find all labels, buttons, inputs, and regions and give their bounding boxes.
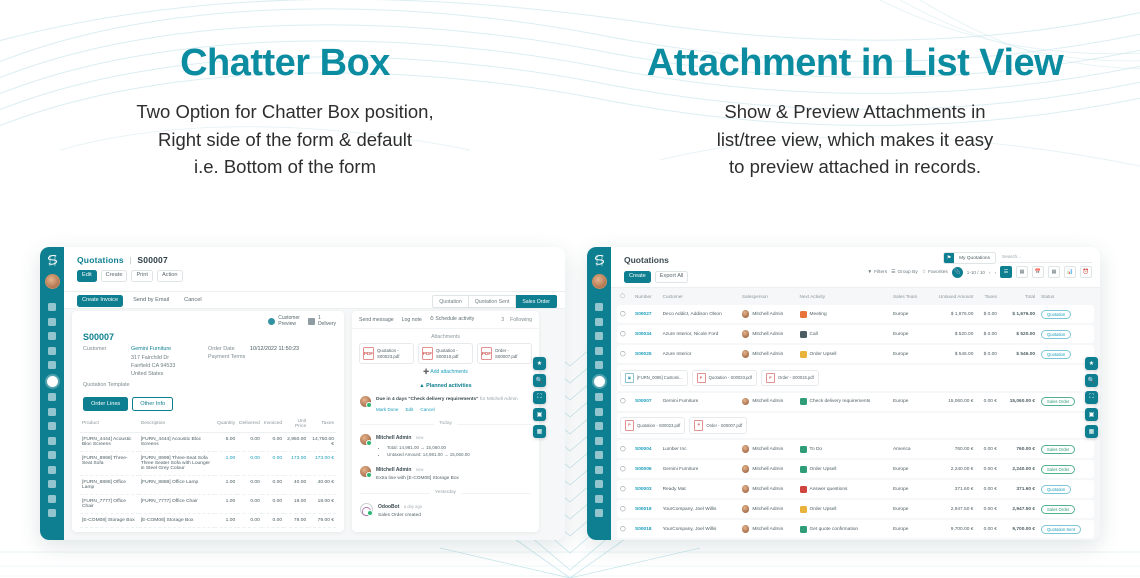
export-all-button[interactable]: Export All — [655, 271, 689, 283]
table-row[interactable]: ◯ S00004 Lumber Inc Mitchell Admin To Do… — [617, 440, 1094, 458]
table-row[interactable]: ◯ S00018 YourCompany, Joel Willis Mitche… — [617, 520, 1094, 538]
search-input[interactable]: Search... — [1000, 253, 1092, 263]
status-badge: Sales Order — [1041, 445, 1075, 454]
pdf-icon: PDF — [481, 347, 492, 360]
row-checkbox[interactable]: ◯ — [617, 480, 632, 498]
cell-team: Europe — [890, 500, 927, 518]
print-button[interactable]: Print — [131, 270, 153, 282]
tab-other-info[interactable]: Other Info — [132, 397, 173, 411]
cancel-button[interactable]: Cancel — [179, 295, 206, 307]
cell-number[interactable]: S00019 — [635, 507, 652, 512]
view-switch-list[interactable]: ☰ — [1000, 266, 1012, 278]
table-row[interactable]: ◯ S00019 YourCompany, Joel Willis Mitche… — [617, 500, 1094, 518]
col-number[interactable]: Number — [632, 289, 660, 303]
search-facet-label: My Quotations — [954, 253, 995, 263]
sidebar-item-employees[interactable] — [595, 466, 603, 474]
cell-number[interactable]: S00025 — [635, 352, 652, 357]
cell-untaxed: $ 1,676.00 — [927, 305, 976, 323]
truck-icon — [308, 318, 315, 325]
cell-customer: Lumber Inc — [660, 440, 739, 458]
cell-unit-price: 79.00 — [284, 513, 308, 527]
cell-team: Europe — [890, 345, 927, 363]
cell-customer: Gemini Furniture — [660, 393, 739, 411]
message-bullets: Total: 14,981.00 → 15,060.00 Untaxed Amo… — [382, 444, 470, 458]
status-step-quotation[interactable]: Quotation — [432, 295, 469, 308]
add-attachments-button[interactable]: ➕ Add attachments — [352, 364, 539, 377]
cell-number[interactable]: S00003 — [635, 487, 652, 492]
cell-unit-price: 40.00 — [284, 475, 308, 494]
breadcrumb-separator: | — [129, 255, 131, 265]
sidebar-item-calendar[interactable] — [48, 332, 56, 340]
sidebar-item-settings[interactable] — [48, 509, 56, 517]
sidebar-item-settings-alt[interactable] — [595, 422, 603, 430]
search-icon[interactable]: 🔍 — [1085, 374, 1098, 387]
row-checkbox[interactable]: ◯ — [617, 460, 632, 478]
sidebar-item-quotations[interactable] — [47, 376, 58, 387]
page-title: Quotations — [624, 255, 669, 265]
sidebar-item-purchase[interactable] — [48, 437, 56, 445]
col-total[interactable]: Total — [1000, 289, 1038, 303]
delivery-smart-button[interactable]: 1 Delivery — [308, 316, 336, 328]
sidebar-item-home[interactable] — [48, 303, 56, 311]
filters-button[interactable]: ▼ Filters — [867, 270, 887, 275]
eye-icon — [268, 318, 275, 325]
activity-subject: "Check delivery requirements" — [408, 397, 478, 402]
cell-subtotal: 173.00 € — [308, 451, 336, 475]
quotations-table-body: ◯ S00027 Deco Addict, Addison Olson Mitc… — [617, 305, 1094, 540]
activity-icon — [800, 311, 807, 318]
table-row[interactable]: ◯ S00025 Azure Interior Mitchell Admin O… — [617, 345, 1094, 363]
cell-description: [E-COM08] Storage Box — [139, 513, 215, 527]
attachment-chip-list: P Quotation - S00023.pdf P Order - S0000… — [620, 417, 1091, 434]
col-delivered[interactable]: Delivered — [237, 417, 262, 433]
create-button[interactable]: Create — [624, 271, 651, 283]
cell-number[interactable]: S00034 — [635, 332, 652, 337]
table-row[interactable]: ◯ S00003 Ready Mat Mitchell Admin Answer… — [617, 480, 1094, 498]
status-badge: Quotation — [1041, 330, 1071, 339]
cell-description: [FURN_8999] Three-Seat Sofa Three Seater… — [139, 451, 215, 475]
cell-unit-price: 18.00 — [284, 494, 308, 513]
sidebar-item-settings[interactable] — [595, 509, 603, 517]
attachment-chip[interactable]: PDF Quotation - S00023.pdf — [359, 343, 414, 364]
form-view-mockup: Quotations | S00007 Edit Create Print Ac… — [40, 247, 565, 540]
message-body: Mitchell Admin now Extra line with [E-CO… — [376, 466, 459, 482]
col-next-activity[interactable]: Next Activity — [797, 289, 890, 303]
row-checkbox[interactable]: ◯ — [617, 520, 632, 538]
floating-toolbar-left: ★ 🔍 ⛶ ▣ ▦ — [533, 357, 546, 438]
cell-number[interactable]: S00006 — [635, 467, 652, 472]
row-checkbox[interactable]: ◯ — [617, 500, 632, 518]
day-separator-label: Yesterday — [430, 490, 461, 495]
cell-total: 371.60 € — [1000, 480, 1038, 498]
favorites-label: Favorites — [928, 270, 948, 275]
sidebar-icon-list — [594, 303, 605, 517]
order-lines-header-row: Product Description Quantity Delivered I… — [80, 417, 336, 433]
row-checkbox[interactable]: ◯ — [617, 325, 632, 343]
attachment-chip[interactable]: P Order - S00007.pdf — [689, 417, 747, 434]
cell-activity: To Do — [810, 447, 823, 452]
cell-product: [E-COM08] Storage Box — [80, 513, 139, 527]
app-logo-icon[interactable] — [591, 252, 608, 269]
star-icon[interactable]: ★ — [533, 357, 546, 370]
cell-delivered: 0.00 — [237, 432, 262, 451]
col-salesperson[interactable]: Salesperson — [739, 289, 797, 303]
attachment-name: Quotation - S00010.pdf — [436, 348, 469, 360]
sidebar-item-sales[interactable] — [48, 318, 56, 326]
col-taxes[interactable]: Taxes — [976, 289, 1000, 303]
col-quantity[interactable]: Quantity — [215, 417, 237, 433]
quotation-form-card: Customer Preview 1 Delivery S00007 Custo… — [72, 311, 344, 532]
grid-icon[interactable]: ▦ — [1085, 425, 1098, 438]
attachment-chip[interactable]: ▣ [FURN_0096] Customi... — [620, 370, 688, 387]
message-bullet: Total: 14,981.00 → 15,060.00 — [387, 444, 470, 451]
planned-activity-item: Due in 4 days "Check delivery requiremen… — [352, 392, 539, 417]
view-switch-pivot[interactable]: ▦ — [1048, 266, 1060, 278]
breadcrumb: Quotations | S00007 — [77, 255, 168, 265]
cell-team: Europe — [890, 305, 927, 323]
message-body: OdooBot a day ago Sales Order created — [378, 503, 422, 519]
user-avatar[interactable] — [592, 274, 607, 289]
cell-taxes: 0.00 € — [976, 460, 1000, 478]
form-topbar: Quotations | S00007 Edit Create Print Ac… — [64, 247, 565, 292]
cell-number[interactable]: S00027 — [635, 312, 652, 317]
filters-label: Filters — [874, 270, 887, 275]
order-date-value[interactable]: 10/12/2022 11:50:23 — [250, 346, 299, 352]
smart-button-bar: Customer Preview 1 Delivery — [72, 311, 344, 330]
status-badge: Sales Order — [1041, 397, 1075, 406]
list-body: ◯ Number Customer Salesperson Next Activ… — [611, 287, 1100, 540]
list-icon: ☰ — [891, 270, 895, 275]
cell-invoiced: 0.00 — [262, 475, 284, 494]
avatar — [360, 434, 371, 445]
row-checkbox[interactable]: ◯ — [617, 440, 632, 458]
sidebar-item-recruitment[interactable] — [48, 480, 56, 488]
activity-cancel-button[interactable]: Cancel — [420, 406, 434, 413]
avatar — [742, 445, 750, 453]
expand-icon[interactable]: ⛶ — [533, 391, 546, 404]
status-pip — [367, 510, 373, 516]
cell-subtotal: 79.00 € — [308, 513, 336, 527]
avatar — [742, 398, 750, 406]
cell-total: 9,700.00 € — [1000, 520, 1038, 538]
breadcrumb-parent[interactable]: Quotations — [77, 255, 124, 265]
sidebar-item-manufacturing[interactable] — [595, 451, 603, 459]
col-untaxed-amount[interactable]: Untaxed Amount — [927, 289, 976, 303]
sidebar-item-sales[interactable] — [595, 318, 603, 326]
view-switch-kanban[interactable]: ▦ — [1016, 266, 1028, 278]
table-row[interactable]: [FURN_4444] Acoustic Bloc Screens [FURN_… — [80, 432, 336, 451]
tab-order-lines[interactable]: Order Lines — [83, 397, 128, 411]
pdf-icon: P — [697, 373, 706, 384]
grid-icon[interactable]: ▦ — [533, 425, 546, 438]
status-badge: Quotation — [1041, 350, 1071, 359]
form-view-panel: Quotations | S00007 Edit Create Print Ac… — [64, 247, 565, 540]
status-step-sales-order[interactable]: Sales Order — [516, 295, 557, 308]
cell-salesperson: Mitchell Admin — [752, 332, 783, 337]
cell-salesperson: Mitchell Admin — [752, 467, 783, 472]
cell-delivered: 0.00 — [237, 451, 262, 475]
create-button[interactable]: Create — [101, 270, 128, 282]
cell-taxes: 0.00 € — [976, 520, 1000, 538]
edit-button[interactable]: Edit — [77, 270, 97, 282]
group-by-button[interactable]: ☰ Group By — [891, 270, 918, 275]
table-row[interactable]: ◯ S00007 Gemini Furniture Mitchell Admin… — [617, 393, 1094, 411]
table-row[interactable]: [E-COM08] Storage Box [E-COM08] Storage … — [80, 513, 336, 527]
avatar — [360, 466, 371, 477]
col-sales-team[interactable]: Sales Team — [890, 289, 927, 303]
cell-salesperson: Mitchell Admin — [752, 399, 783, 404]
cell-delivered: 0.00 — [237, 475, 262, 494]
group-by-label: Group By — [897, 270, 917, 275]
cell-taxes: $ 0.00 — [976, 345, 1000, 363]
cell-invoiced: 0.00 — [262, 513, 284, 527]
attachment-chip[interactable]: P Quotation - S00023.pdf — [692, 370, 757, 387]
activity-edit-button[interactable]: Edit — [405, 406, 413, 413]
sidebar-item-manufacturing[interactable] — [48, 451, 56, 459]
day-separator-yesterday: Yesterday — [352, 486, 539, 499]
action-button[interactable]: Action — [157, 270, 183, 282]
chatter-message: Mitchell Admin now Total: 14,981.00 → 15… — [352, 430, 539, 462]
message-body: Mitchell Admin now Total: 14,981.00 → 15… — [376, 434, 470, 458]
sidebar-item-website[interactable] — [595, 495, 603, 503]
table-row[interactable]: ◯ S00034 Azure Interior, Nicole Ford Mit… — [617, 325, 1094, 343]
following-button[interactable]: Following — [510, 317, 532, 323]
cell-customer: Gemini Furniture — [660, 460, 739, 478]
cell-number[interactable]: S00018 — [635, 527, 652, 532]
sidebar-item-calendar[interactable] — [595, 332, 603, 340]
attachment-name: [FURN_0096] Customi... — [637, 375, 683, 380]
sidebar-item-contacts[interactable] — [48, 347, 56, 355]
cell-subtotal: 14,750.00 € — [308, 432, 336, 451]
cell-activity: Meeting — [810, 312, 827, 317]
followers-count[interactable]: 3 — [501, 317, 504, 323]
view-switch-calendar[interactable]: 📅 — [1032, 266, 1044, 278]
cell-product: [FURN_7777] Office Chair — [80, 494, 139, 513]
message-author: Mitchell Admin — [376, 435, 411, 441]
avatar-bot — [360, 503, 373, 516]
cell-invoiced: 0.00 — [262, 494, 284, 513]
app-logo-icon[interactable] — [44, 252, 61, 269]
form-fields-right: Order Date 10/12/2022 11:50:23 Payment T… — [208, 346, 333, 391]
cell-number[interactable]: S00004 — [635, 447, 652, 452]
planned-activities-title: ▲ Planned activities — [352, 377, 539, 392]
status-badge: Quotation — [1041, 310, 1071, 319]
headings-section: Chatter Box Two Option for Chatter Box p… — [0, 0, 1140, 210]
cell-activity: Order Upsell — [810, 507, 837, 512]
add-attachments-label: Add attachments — [430, 369, 468, 375]
quotation-template-label: Quotation Template — [83, 382, 130, 388]
sidebar-item-contacts[interactable] — [595, 347, 603, 355]
sidebar-item-home[interactable] — [595, 303, 603, 311]
cell-delivered: 0.00 — [237, 494, 262, 513]
customer-preview-label: Customer Preview — [278, 316, 300, 328]
cell-salesperson: Mitchell Admin — [752, 352, 783, 357]
attachment-chip[interactable]: P Order - S00015.pdf — [761, 370, 819, 387]
sidebar-item-website[interactable] — [48, 495, 56, 503]
cell-untaxed: 760.00 € — [927, 440, 976, 458]
form-fields-left: Customer Gemini Furniture 317 Fairchild … — [83, 346, 208, 391]
cell-delivered: 0.00 — [237, 513, 262, 527]
attachment-name: Order - S00015.pdf — [778, 375, 814, 380]
status-pip — [366, 472, 372, 478]
cell-activity: Order Upsell — [810, 352, 837, 357]
cell-salesperson: Mitchell Admin — [752, 487, 783, 492]
sidebar-item-purchase[interactable] — [595, 437, 603, 445]
cell-team: Europe — [890, 520, 927, 538]
attachment-name: Quotation - S00023.pdf — [709, 375, 752, 380]
order-date-label: Order Date — [208, 346, 250, 352]
cell-untaxed: 2,240.00 € — [927, 460, 976, 478]
chatter-box: Send message Log note ⏱ Schedule activit… — [352, 311, 539, 532]
attachment-row: P Quotation - S00023.pdf P Order - S0000… — [617, 413, 1094, 439]
image-icon[interactable]: ▣ — [1085, 408, 1098, 421]
cell-untaxed: 15,060.00 € — [927, 393, 976, 411]
pager-prev-button[interactable]: ‹ — [989, 270, 991, 275]
sidebar-item-favorites[interactable] — [48, 361, 56, 369]
record-title: S00007 — [72, 330, 344, 346]
customer-preview-smart-button[interactable]: Customer Preview — [268, 316, 300, 328]
user-avatar[interactable] — [45, 274, 60, 289]
col-customer[interactable]: Customer — [660, 289, 739, 303]
attachment-chip[interactable]: PDF Order - S00007.pdf — [477, 343, 532, 364]
message-bullet: Untaxed Amount: 14,981.00 → 15,060.00 — [387, 451, 470, 458]
customer-address: 317 Fairchild Dr Fairfield CA 94533 Unit… — [131, 354, 208, 378]
payment-terms-label: Payment Terms — [208, 354, 250, 360]
activity-icon — [800, 466, 807, 473]
col-product[interactable]: Product — [80, 417, 139, 433]
expand-icon[interactable]: ⛶ — [1085, 391, 1098, 404]
activity-icon — [800, 506, 807, 513]
col-invoiced[interactable]: Invoiced — [262, 417, 284, 433]
sidebar-item-settings-alt[interactable] — [48, 422, 56, 430]
search-facet[interactable]: ⚑ My Quotations — [943, 252, 996, 264]
breadcrumb-record: S00007 — [137, 255, 168, 265]
cell-number[interactable]: S00007 — [635, 399, 652, 404]
sidebar-item-recruitment[interactable] — [595, 480, 603, 488]
avatar — [742, 505, 750, 513]
row-checkbox[interactable]: ◯ — [617, 393, 632, 411]
mark-done-button[interactable]: Mark Done — [376, 406, 398, 413]
send-by-email-button[interactable]: Send by Email — [128, 295, 174, 307]
table-row[interactable]: ◯ S00006 Gemini Furniture Mitchell Admin… — [617, 460, 1094, 478]
sidebar-item-employees[interactable] — [48, 466, 56, 474]
pager-next-button[interactable]: › — [994, 270, 996, 275]
col-status[interactable]: Status — [1038, 289, 1094, 303]
col-unit-price[interactable]: Unit Price — [284, 417, 308, 433]
col-taxes[interactable]: Taxes — [308, 417, 336, 433]
message-time: now — [416, 467, 424, 472]
star-icon[interactable]: ★ — [1085, 357, 1098, 370]
avatar — [742, 485, 750, 493]
cell-salesperson: Mitchell Admin — [752, 527, 783, 532]
attachment-chip[interactable]: P Quotation - S00023.pdf — [620, 417, 685, 434]
chatter-message: Mitchell Admin now Extra line with [E-CO… — [352, 462, 539, 486]
pager-label: 1-10 / 10 — [967, 270, 985, 275]
star-icon: ☆ — [922, 270, 926, 275]
app-sidebar-left — [40, 247, 64, 540]
row-checkbox[interactable]: ◯ — [617, 305, 632, 323]
sidebar-item-invoicing[interactable] — [595, 393, 603, 401]
table-row[interactable]: [FURN_8999] Three-Seat Sofa [FURN_8999] … — [80, 451, 336, 475]
attachment-chip[interactable]: PDF Quotation - S00010.pdf — [418, 343, 473, 364]
activity-icon — [800, 398, 807, 405]
status-step-quotation-sent[interactable]: Quotation Sent — [469, 295, 517, 308]
order-lines-table: Product Description Quantity Delivered I… — [80, 417, 336, 528]
page-title-left: Chatter Box — [0, 44, 570, 84]
cell-total: 760.00 € — [1000, 440, 1038, 458]
customer-value[interactable]: Gemini Furniture — [131, 346, 171, 352]
cell-total: 2,947.50 € — [1000, 500, 1038, 518]
app-sidebar-right — [587, 247, 611, 540]
cell-team: America — [890, 440, 927, 458]
activity-due: Due in 4 days — [376, 397, 407, 402]
search-icon[interactable]: 🔍 — [533, 374, 546, 387]
cell-subtotal: 18.00 € — [308, 494, 336, 513]
activity-icon — [800, 446, 807, 453]
sidebar-item-invoicing[interactable] — [48, 393, 56, 401]
order-date-field-row: Order Date 10/12/2022 11:50:23 — [208, 346, 333, 352]
pdf-icon: PDF — [422, 347, 433, 360]
form-fields-grid: Customer Gemini Furniture 317 Fairchild … — [72, 346, 344, 391]
customer-field-row: Customer Gemini Furniture — [83, 346, 208, 352]
attachment-row: ▣ [FURN_0096] Customi... P Quotation - S… — [617, 365, 1094, 391]
create-invoice-button[interactable]: Create Invoice — [77, 295, 123, 307]
heading-column-chatter: Chatter Box Two Option for Chatter Box p… — [0, 0, 570, 210]
select-all-checkbox[interactable]: ◯ — [617, 289, 632, 303]
page-subtitle-left: Two Option for Chatter Box position, Rig… — [0, 98, 570, 181]
view-switch-graph[interactable]: 📊 — [1064, 266, 1076, 278]
attachment-toggle-button[interactable]: 📎 — [952, 267, 963, 278]
status-badge: Sales Order — [1041, 505, 1075, 514]
cell-untaxed: $ 546.00 — [927, 345, 976, 363]
sidebar-item-favorites[interactable] — [595, 361, 603, 369]
attachment-name: Quotation - S00023.pdf — [377, 348, 410, 360]
attachment-name: Order - S00007.pdf — [706, 423, 742, 428]
cell-salesperson: Mitchell Admin — [752, 312, 783, 317]
pdf-icon: PDF — [363, 347, 374, 360]
row-checkbox[interactable]: ◯ — [617, 345, 632, 363]
sidebar-item-inventory[interactable] — [48, 408, 56, 416]
sidebar-item-quotations[interactable] — [594, 376, 605, 387]
image-icon: ▣ — [625, 373, 634, 384]
cell-taxes: 0.00 € — [976, 500, 1000, 518]
cell-team: Europe — [890, 325, 927, 343]
view-switch-activity[interactable]: ⏰ — [1080, 266, 1092, 278]
cell-activity: Call — [810, 332, 818, 337]
favorites-button[interactable]: ☆ Favorites — [922, 270, 948, 275]
log-note-button[interactable]: Log note — [402, 317, 422, 323]
schedule-activity-button[interactable]: ⏱ Schedule activity — [430, 316, 474, 323]
cell-description: [FURN_8888] Office Lamp — [139, 475, 215, 494]
col-description[interactable]: Description — [139, 417, 215, 433]
send-message-button[interactable]: Send message — [359, 317, 394, 323]
table-row[interactable]: ◯ S00027 Deco Addict, Addison Olson Mitc… — [617, 305, 1094, 323]
activity-body: Due in 4 days "Check delivery requiremen… — [376, 396, 518, 413]
image-icon[interactable]: ▣ — [533, 408, 546, 421]
pdf-icon: P — [625, 420, 634, 431]
table-row[interactable]: [FURN_8888] Office Lamp [FURN_8888] Offi… — [80, 475, 336, 494]
cell-team: Europe — [890, 393, 927, 411]
message-time: now — [416, 435, 424, 440]
pdf-icon: P — [694, 420, 703, 431]
avatar — [742, 350, 750, 358]
message-text: Extra line with [E-COM08] Storage Box — [376, 475, 459, 483]
cell-description: [FURN_7777] Office Chair — [139, 494, 215, 513]
table-row[interactable]: [FURN_7777] Office Chair [FURN_7777] Off… — [80, 494, 336, 513]
attachment-chip-list: ▣ [FURN_0096] Customi... P Quotation - S… — [620, 370, 1091, 387]
cell-customer: Azure Interior — [660, 345, 739, 363]
sidebar-item-inventory[interactable] — [595, 408, 603, 416]
